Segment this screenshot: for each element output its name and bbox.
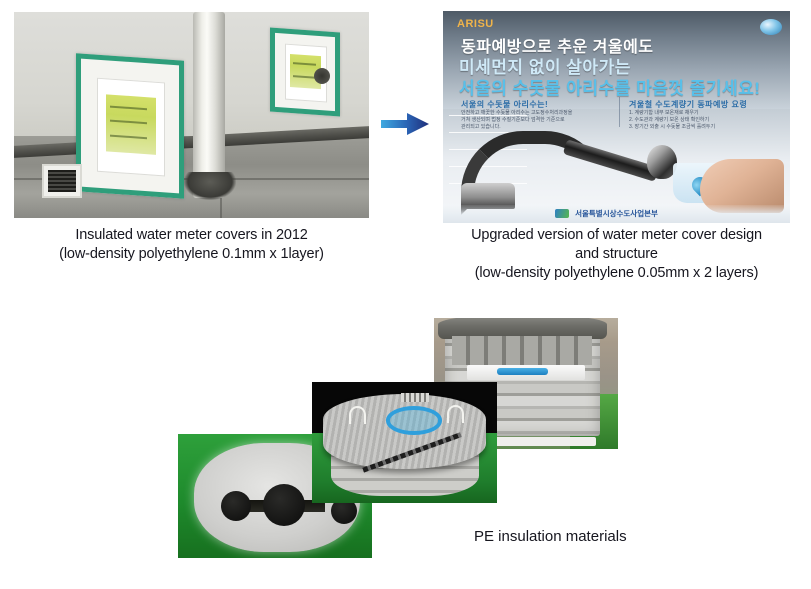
pipe-cutout-small <box>221 491 251 521</box>
caption-after: Upgraded version of water meter cover de… <box>435 226 798 283</box>
corridor-meter-covers-photo <box>14 12 369 218</box>
pe-cover-on-table-photo <box>312 382 497 503</box>
meter-cover-frame <box>270 28 340 117</box>
stack-rib-structure <box>452 336 592 365</box>
cover-hook-left <box>349 406 366 424</box>
water-drop-logo-icon <box>760 19 782 35</box>
meter-cover-frame <box>76 53 184 199</box>
pipe-cutout-large <box>263 484 305 526</box>
blue-ring-handle <box>386 406 442 435</box>
vertical-pipe <box>193 12 225 198</box>
wall-vent-grille <box>42 164 82 198</box>
caption-before-line1: Insulated water meter covers in 2012 <box>14 226 369 245</box>
poster-subhead-right: 겨울철 수도계량기 동파예방 요령 <box>629 99 747 110</box>
caption-after-line2: and structure <box>435 245 798 264</box>
pe-insulation-label: PE insulation materials <box>474 528 627 545</box>
poster-subhead-left: 서울의 수돗물 아리수는! <box>461 99 548 110</box>
caption-before-line2: (low-density polyethylene 0.1mm x 1layer… <box>14 245 369 264</box>
transition-arrow <box>381 112 429 136</box>
faucet-illustration <box>461 123 676 209</box>
arisu-poster-photo: ARISU 동파예방으로 추운 겨울에도 미세먼지 없이 살아가는 서울의 수돗… <box>443 11 790 223</box>
meter-notice-sheet <box>97 78 166 177</box>
caption-after-line3: (low-density polyethylene 0.05mm x 2 lay… <box>435 264 798 283</box>
blue-handle <box>497 368 549 375</box>
notice-green-band <box>106 94 157 155</box>
seoul-waterworks-logo-icon <box>555 209 569 218</box>
arrow-right-icon <box>381 112 429 136</box>
cover-label-tag <box>401 393 429 402</box>
caption-before: Insulated water meter covers in 2012 (lo… <box>14 226 369 264</box>
caption-after-line1: Upgraded version of water meter cover de… <box>435 226 798 245</box>
wall-dark-spot <box>314 68 330 84</box>
pipe-base-shadow <box>184 172 236 200</box>
cover-hook-right <box>447 405 464 423</box>
poster-organization: 서울특별시상수도사업본부 <box>575 208 658 219</box>
poster-headline-3: 서울의 수돗물 아리수를 마음껏 즐기세요! <box>459 74 760 99</box>
poster-footer: 서울특별시상수도사업본부 <box>443 205 790 223</box>
poster-brand: ARISU <box>457 18 494 30</box>
